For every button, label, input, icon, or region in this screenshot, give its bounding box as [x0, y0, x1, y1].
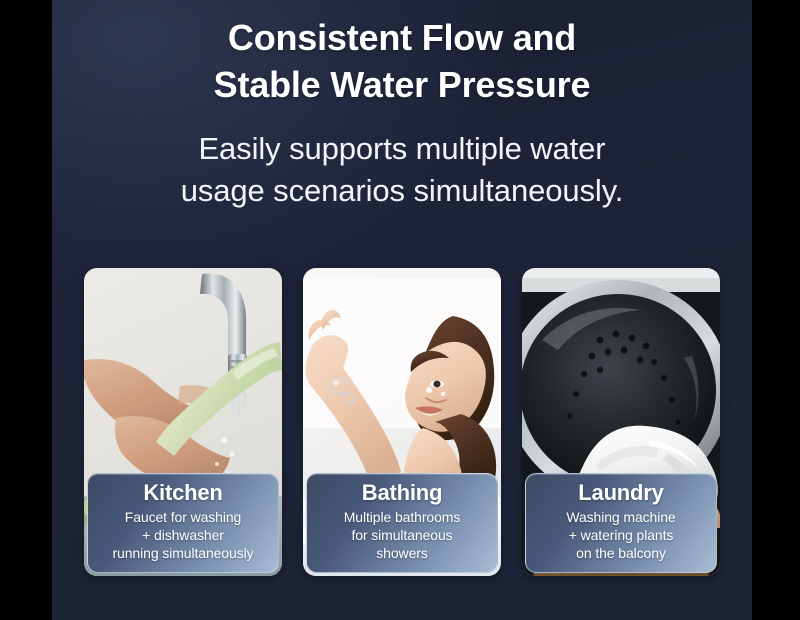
letterbox-right	[752, 0, 800, 620]
page-title-line-1: Consistent Flow and	[52, 14, 752, 61]
caption-panel-bathing: Bathing Multiple bathrooms for simultane…	[306, 473, 498, 573]
caption-description: Faucet for washing + dishwasher running …	[88, 507, 278, 563]
scenario-card-row: Kitchen Faucet for washing + dishwasher …	[84, 268, 720, 576]
caption-description-line-3: showers	[311, 544, 493, 562]
page-subtitle-line-2: usage scenarios simultaneously.	[52, 170, 752, 212]
letterbox-left	[0, 0, 52, 620]
page-subtitle-line-1: Easily supports multiple water	[52, 128, 752, 170]
caption-panel-laundry: Laundry Washing machine + watering plant…	[525, 473, 717, 573]
scenario-card-bathing[interactable]: Bathing Multiple bathrooms for simultane…	[303, 268, 501, 576]
caption-title: Bathing	[307, 479, 497, 507]
caption-description: Multiple bathrooms for simultaneous show…	[307, 507, 497, 563]
scenario-card-laundry[interactable]: Laundry Washing machine + watering plant…	[522, 268, 720, 576]
caption-description-line-2: + dishwasher	[92, 526, 274, 544]
caption-description-line-1: Multiple bathrooms	[311, 508, 493, 526]
caption-title: Laundry	[526, 479, 716, 507]
caption-description-line-3: on the balcony	[530, 544, 712, 562]
page-title: Consistent Flow and Stable Water Pressur…	[52, 0, 752, 108]
caption-description-line-2: + watering plants	[530, 526, 712, 544]
caption-description: Washing machine + watering plants on the…	[526, 507, 716, 563]
page-subtitle: Easily supports multiple water usage sce…	[52, 108, 752, 212]
caption-description-line-2: for simultaneous	[311, 526, 493, 544]
caption-description-line-1: Faucet for washing	[92, 508, 274, 526]
promo-poster: Consistent Flow and Stable Water Pressur…	[52, 0, 752, 620]
page-title-line-2: Stable Water Pressure	[52, 61, 752, 108]
caption-description-line-1: Washing machine	[530, 508, 712, 526]
caption-panel-kitchen: Kitchen Faucet for washing + dishwasher …	[87, 473, 279, 573]
caption-description-line-3: running simultaneously	[92, 544, 274, 562]
caption-title: Kitchen	[88, 479, 278, 507]
scenario-card-kitchen[interactable]: Kitchen Faucet for washing + dishwasher …	[84, 268, 282, 576]
